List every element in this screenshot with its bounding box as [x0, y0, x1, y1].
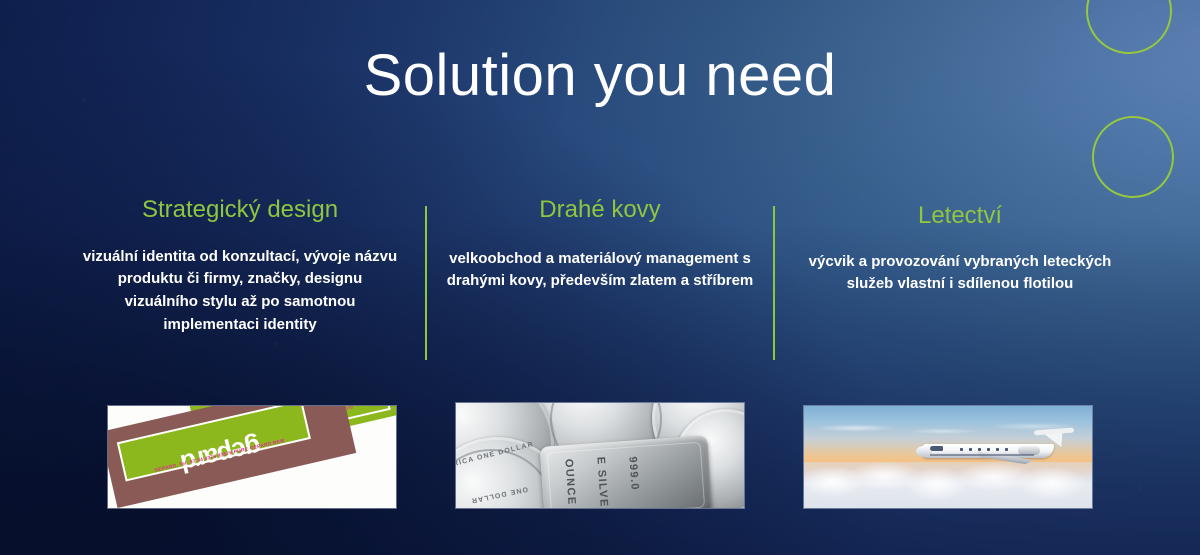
presentation-slide: Solution you need Strategický design viz…	[0, 0, 1200, 555]
column-body-text: vizuální identita od konzultací, vývoje …	[74, 246, 406, 337]
photo-strip: gepard MMC 23.230 gepard GEPARD, Tel: 97…	[0, 406, 1200, 511]
photo-strategic-design: gepard MMC 23.230 gepard GEPARD, Tel: 97…	[108, 406, 396, 508]
column-body-text: výcvik a provozování vybraných leteckých…	[794, 251, 1126, 297]
column-aviation: Letectví výcvik a provozování vybraných …	[780, 196, 1140, 296]
column-strategic-design: Strategický design vizuální identita od …	[60, 196, 420, 337]
columns-container: Strategický design vizuální identita od …	[60, 196, 1140, 337]
silver-bullion-bar: OUNCE E SILVER 999.0	[539, 435, 712, 508]
photo-precious-metals: RICA ONE DOLLAR ONE DOLLAR OUNCE E SILVE…	[456, 403, 744, 508]
page-title: Solution you need	[0, 47, 1200, 105]
decorative-circle-bottom-icon	[1092, 116, 1174, 198]
column-precious-metals: Drahé kovy velkoobchod a materiálový man…	[420, 196, 780, 293]
bar-text-fineness: 999.0	[626, 456, 640, 491]
column-heading: Drahé kovy	[434, 196, 766, 224]
column-heading: Letectví	[794, 202, 1126, 230]
column-body-text: velkoobchod a materiálový management s d…	[434, 248, 766, 294]
private-jet-icon	[922, 432, 1072, 466]
column-heading: Strategický design	[74, 196, 406, 224]
photo-aviation	[804, 406, 1092, 508]
